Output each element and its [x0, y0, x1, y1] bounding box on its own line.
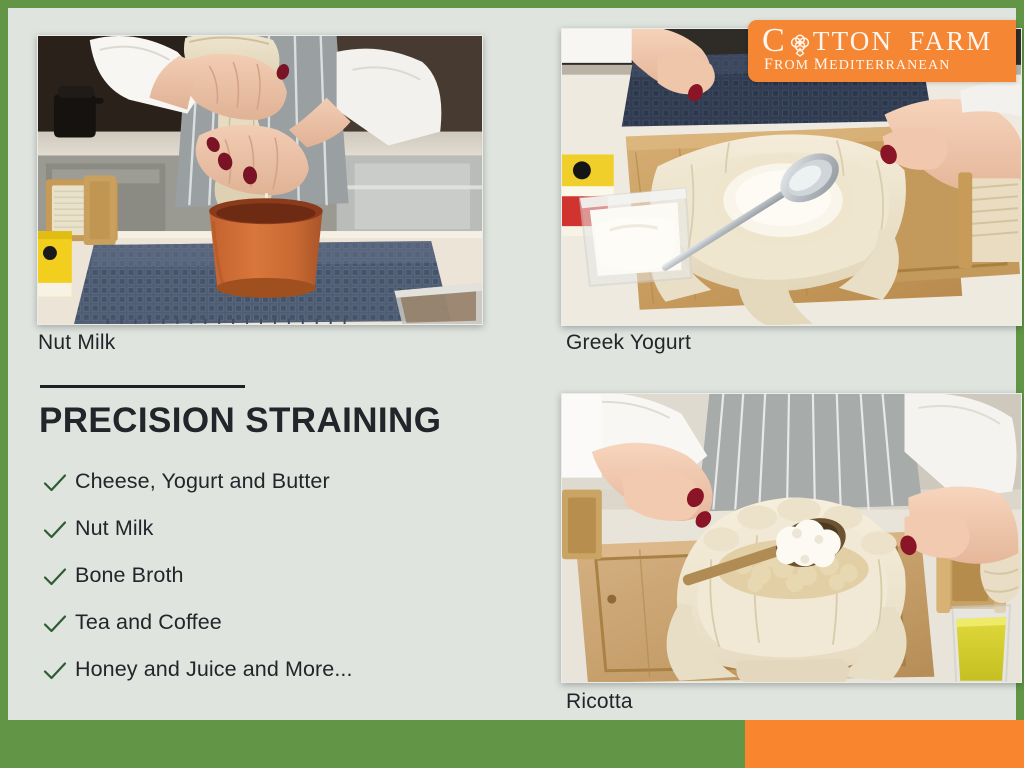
- list-item: Tea and Coffee: [41, 599, 471, 646]
- caption-greek-yogurt: Greek Yogurt: [566, 331, 691, 355]
- photo-ricotta[interactable]: [561, 393, 1022, 683]
- logo-tagline-m: M: [814, 56, 829, 73]
- title-divider-rule: [40, 385, 245, 388]
- feature-list: Cheese, Yogurt and Butter Nut Milk Bone …: [41, 458, 471, 693]
- logo-tagline: FROM MEDITERRANEAN: [764, 56, 950, 74]
- logo-wordmark: C TTON FARM: [762, 22, 993, 60]
- photo-nut-milk[interactable]: [37, 35, 483, 325]
- list-item: Cheese, Yogurt and Butter: [41, 458, 471, 505]
- slide-root: Nut Milk: [0, 0, 1024, 768]
- slide-canvas: Nut Milk: [8, 8, 1016, 720]
- check-icon: [41, 563, 69, 591]
- logo-tagline-rom: ROM: [774, 58, 814, 73]
- nut-milk-illustration: [38, 36, 482, 325]
- list-item-label: Tea and Coffee: [75, 610, 222, 635]
- check-icon: [41, 516, 69, 544]
- cotton-boll-icon: [788, 32, 812, 56]
- caption-ricotta: Ricotta: [566, 690, 633, 714]
- list-item: Bone Broth: [41, 552, 471, 599]
- check-icon: [41, 469, 69, 497]
- list-item-label: Honey and Juice and More...: [75, 657, 353, 682]
- list-item-label: Nut Milk: [75, 516, 153, 541]
- check-icon: [41, 610, 69, 638]
- list-item: Nut Milk: [41, 505, 471, 552]
- logo-word-farm: FARM: [909, 26, 992, 57]
- list-item: Honey and Juice and More...: [41, 646, 471, 693]
- list-item-label: Cheese, Yogurt and Butter: [75, 469, 330, 494]
- check-icon: [41, 657, 69, 685]
- logo-tagline-f: F: [764, 56, 774, 73]
- footer-orange-block: [745, 720, 1024, 768]
- cotton-farm-logo[interactable]: C TTON FARM FROM MEDITERRANEAN: [748, 20, 1016, 82]
- logo-letter-c: C: [762, 22, 787, 60]
- caption-nut-milk: Nut Milk: [38, 331, 115, 355]
- ricotta-illustration: [562, 394, 1021, 683]
- list-item-label: Bone Broth: [75, 563, 184, 588]
- page-title: PRECISION STRAINING: [39, 402, 441, 441]
- logo-tagline-tail: EDITERRANEAN: [829, 58, 950, 73]
- logo-word-cotton-rest: TTON: [813, 26, 893, 57]
